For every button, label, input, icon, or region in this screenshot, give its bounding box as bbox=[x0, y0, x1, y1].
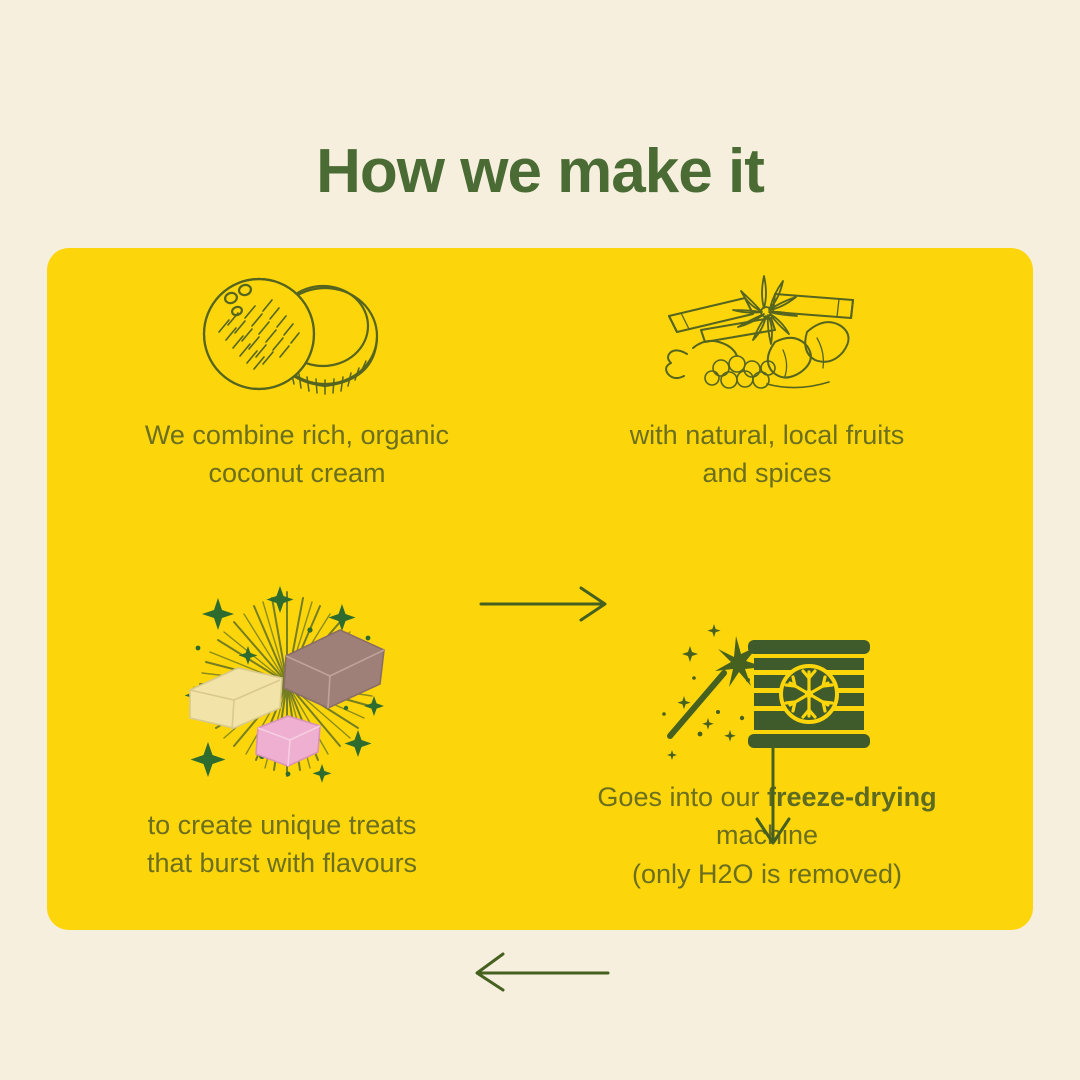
treats-caption-line2: that burst with flavours bbox=[57, 844, 507, 882]
coconut-icon bbox=[197, 268, 387, 403]
page-title: How we make it bbox=[0, 138, 1080, 206]
process-step-treats: to create unique treats that burst with … bbox=[57, 578, 507, 898]
process-step-coconut: We combine rich, organic coconut cream bbox=[67, 268, 527, 518]
coconut-caption: We combine rich, organic coconut cream bbox=[67, 416, 527, 493]
process-diagram-card: We combine rich, organic coconut cream bbox=[47, 248, 1033, 930]
arrow-right-icon bbox=[477, 583, 612, 630]
coconut-caption-line2: coconut cream bbox=[67, 454, 527, 492]
spices-caption-line2: and spices bbox=[547, 454, 987, 492]
treats-burst-icon bbox=[162, 578, 412, 793]
treats-caption-line1: to create unique treats bbox=[57, 806, 507, 844]
process-step-spices: with natural, local fruits and spices bbox=[547, 268, 987, 518]
arrow-left-icon bbox=[467, 948, 612, 999]
coconut-caption-line1: We combine rich, organic bbox=[67, 416, 527, 454]
treats-caption: to create unique treats that burst with … bbox=[57, 806, 507, 883]
machine-caption-line3: (only H2O is removed) bbox=[547, 855, 987, 893]
machine-caption-line1-pre: Goes into our bbox=[597, 782, 767, 812]
spices-caption: with natural, local fruits and spices bbox=[547, 416, 987, 493]
spices-caption-line1: with natural, local fruits bbox=[547, 416, 987, 454]
arrow-down-icon bbox=[752, 743, 794, 856]
fruits-and-spices-icon bbox=[657, 268, 872, 398]
